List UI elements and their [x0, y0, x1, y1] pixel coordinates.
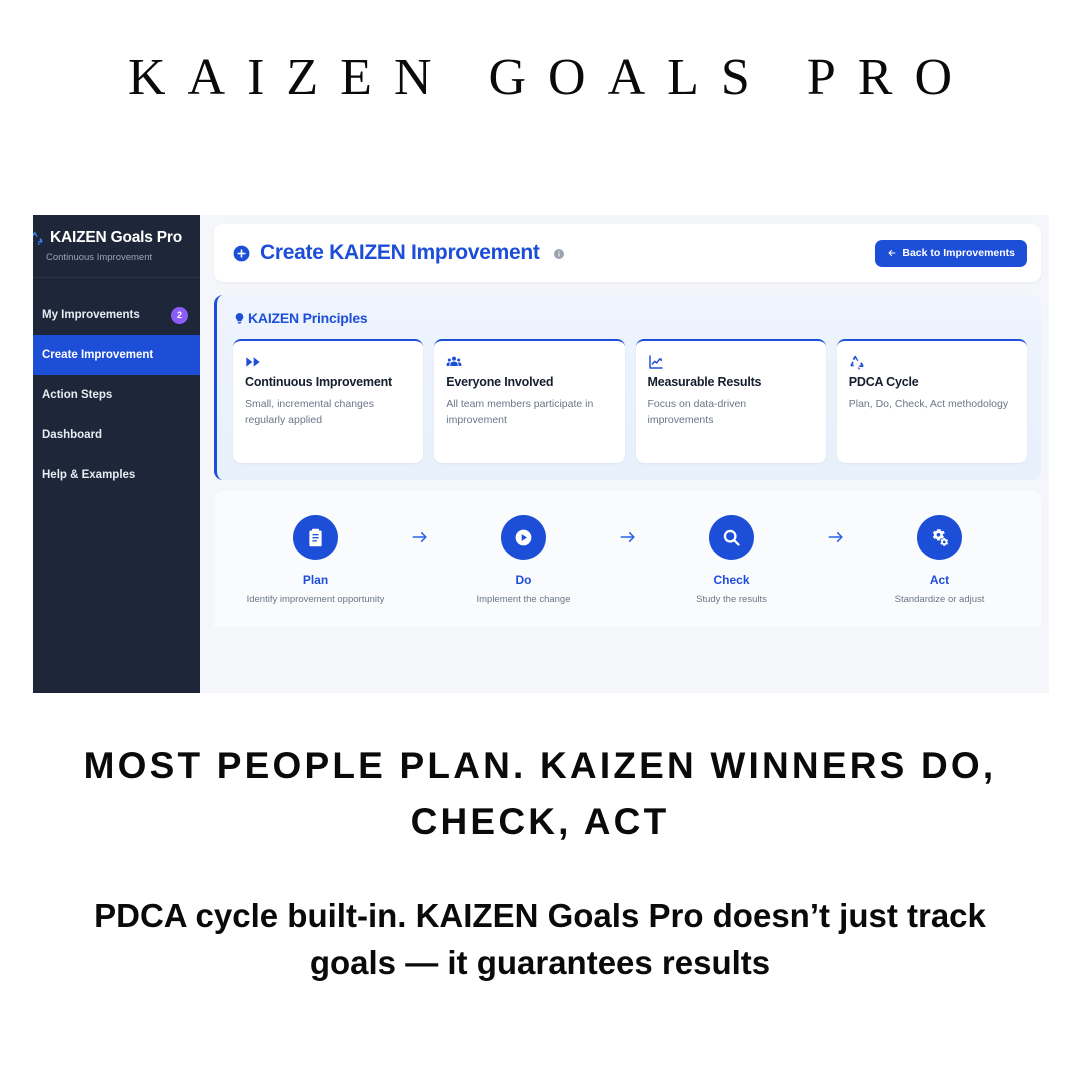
principle-card-continuous-improvement[interactable]: Continuous Improvement Small, incrementa… — [233, 339, 423, 463]
principle-desc: Small, incremental changes regularly app… — [245, 397, 411, 428]
back-to-improvements-label: Back to Improvements — [902, 247, 1015, 259]
pdca-step-label: Check — [657, 573, 807, 587]
back-to-improvements-button[interactable]: Back to Improvements — [875, 240, 1027, 267]
pdca-step-desc: Identify improvement opportunity — [241, 594, 391, 607]
page-header: Create KAIZEN Improvement — [214, 224, 1041, 282]
principle-title: PDCA Cycle — [849, 375, 1015, 389]
principles-section-title: KAIZEN Principles — [248, 310, 368, 326]
app-screenshot: KAIZEN Goals Pro Continuous Improvement … — [33, 215, 1049, 693]
pdca-step-desc: Study the results — [657, 594, 807, 607]
page-title: Create KAIZEN Improvement — [260, 241, 540, 265]
sidebar-item-label: Help & Examples — [42, 469, 135, 481]
marketing-headline: Most people plan. KAIZEN winners do, che… — [30, 738, 1050, 849]
arrow-right-icon — [391, 515, 449, 547]
sidebar-item-label: Create Improvement — [42, 349, 153, 361]
sidebar-brand-title: KAIZEN Goals Pro — [50, 229, 182, 247]
principle-card-everyone-involved[interactable]: Everyone Involved All team members parti… — [434, 339, 624, 463]
sidebar-item-create-improvement[interactable]: Create Improvement — [33, 335, 200, 375]
sidebar-brand: KAIZEN Goals Pro Continuous Improvement — [33, 215, 200, 278]
app-sidebar: KAIZEN Goals Pro Continuous Improvement … — [33, 215, 200, 693]
pdca-step-label: Act — [865, 573, 1015, 587]
sidebar-item-label: Dashboard — [42, 429, 102, 441]
pdca-step-desc: Implement the change — [449, 594, 599, 607]
pdca-step-plan[interactable]: Plan Identify improvement opportunity — [241, 515, 391, 607]
marketing-subheadline: PDCA cycle built-in. KAIZEN Goals Pro do… — [55, 893, 1025, 987]
arrow-right-icon — [807, 515, 865, 547]
sidebar-item-dashboard[interactable]: Dashboard — [33, 415, 200, 455]
principle-desc: All team members participate in improvem… — [446, 397, 612, 428]
app-main: Create KAIZEN Improvement — [200, 215, 1049, 693]
arrow-right-icon — [599, 515, 657, 547]
principle-title: Everyone Involved — [446, 375, 612, 389]
lightbulb-icon — [233, 312, 246, 325]
pdca-step-check[interactable]: Check Study the results — [657, 515, 807, 607]
pdca-step-act[interactable]: Act Standardize or adjust — [865, 515, 1015, 607]
sidebar-item-label: My Improvements — [42, 309, 140, 321]
principles-grid: Continuous Improvement Small, incrementa… — [233, 339, 1027, 463]
users-group-icon — [446, 357, 462, 374]
principle-desc: Focus on data-driven improvements — [648, 397, 814, 428]
chart-line-icon — [648, 357, 664, 374]
arrow-left-icon — [887, 248, 897, 258]
sidebar-item-help-examples[interactable]: Help & Examples — [33, 455, 200, 495]
principle-title: Continuous Improvement — [245, 375, 411, 389]
sidebar-brand-subtitle: Continuous Improvement — [46, 252, 200, 263]
principle-title: Measurable Results — [648, 375, 814, 389]
status-badge: 2 — [171, 307, 188, 324]
search-icon — [709, 515, 754, 560]
info-circle-icon[interactable] — [553, 247, 565, 259]
pdca-cycle-strip: Plan Identify improvement opportunity — [214, 491, 1041, 627]
plus-circle-icon — [232, 244, 251, 263]
fast-forward-icon — [245, 357, 261, 374]
sidebar-item-my-improvements[interactable]: My Improvements 2 — [33, 295, 200, 335]
principle-desc: Plan, Do, Check, Act methodology — [849, 397, 1015, 413]
pdca-step-label: Plan — [241, 573, 391, 587]
recycle-icon — [849, 357, 865, 374]
sidebar-item-action-steps[interactable]: Action Steps — [33, 375, 200, 415]
pdca-step-do[interactable]: Do Implement the change — [449, 515, 599, 607]
pdca-step-label: Do — [449, 573, 599, 587]
principle-card-pdca-cycle[interactable]: PDCA Cycle Plan, Do, Check, Act methodol… — [837, 339, 1027, 463]
gears-icon — [917, 515, 962, 560]
sidebar-item-label: Action Steps — [42, 389, 112, 401]
sidebar-nav: My Improvements 2 Create Improvement Act… — [33, 295, 200, 495]
play-circle-icon — [501, 515, 546, 560]
poster-canvas: KAIZEN GOALS PRO KAIZEN Goals Pro Contin… — [0, 0, 1080, 1080]
clipboard-list-icon — [293, 515, 338, 560]
kaizen-principles-panel: KAIZEN Principles Continuous Improvement… — [214, 295, 1041, 480]
principle-card-measurable-results[interactable]: Measurable Results Focus on data-driven … — [636, 339, 826, 463]
pdca-step-desc: Standardize or adjust — [865, 594, 1015, 607]
brand-wordmark: KAIZEN GOALS PRO — [0, 48, 1080, 107]
recycle-icon — [33, 230, 45, 246]
